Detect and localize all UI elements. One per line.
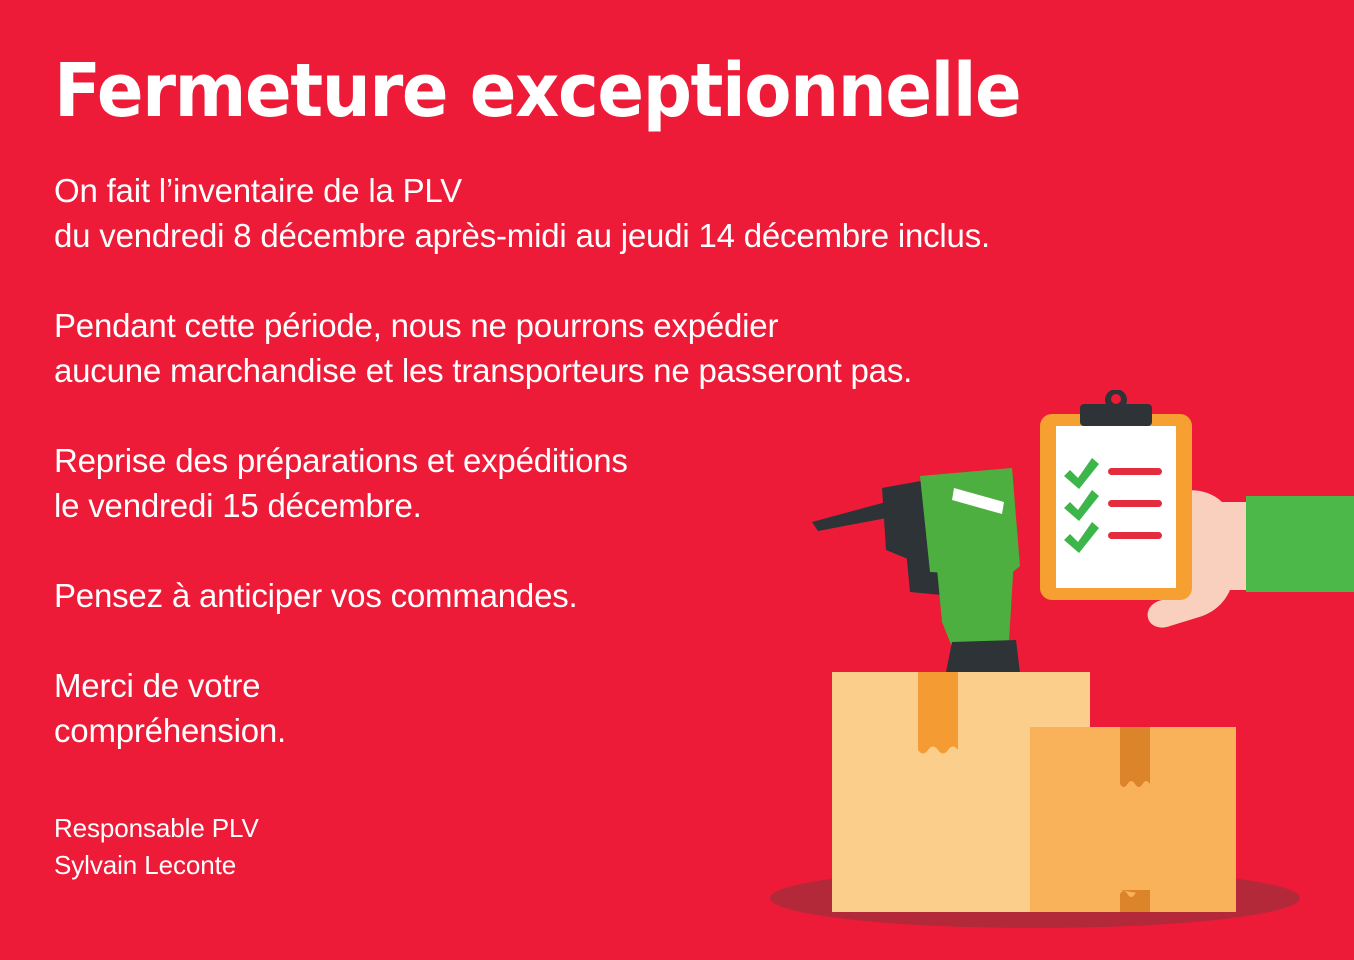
paragraph-inventory-notice: On fait l’inventaire de la PLV du vendre… — [54, 168, 1174, 258]
paragraph-anticipate-notice: Pensez à anticiper vos commandes. — [54, 573, 1174, 618]
poster-root: Fermeture exceptionnelle On fait l’inven… — [0, 0, 1354, 960]
poster-body: On fait l’inventaire de la PLV du vendre… — [54, 168, 1174, 884]
paragraph-line: aucune marchandise et les transporteurs … — [54, 348, 1174, 393]
poster-text-column: Fermeture exceptionnelle On fait l’inven… — [54, 0, 1174, 884]
signature-name: Sylvain Leconte — [54, 847, 1174, 884]
paragraph-thanks-notice: Merci de votre compréhension. — [54, 663, 1174, 753]
page-title: Fermeture exceptionnelle — [54, 0, 1096, 128]
paragraph-line: Reprise des préparations et expéditions — [54, 438, 1174, 483]
paragraph-resume-notice: Reprise des préparations et expéditions … — [54, 438, 1174, 528]
paragraph-line: On fait l’inventaire de la PLV — [54, 168, 1174, 213]
paragraph-line: Pendant cette période, nous ne pourrons … — [54, 303, 1174, 348]
paragraph-line: le vendredi 15 décembre. — [54, 483, 1174, 528]
paragraph-line: Pensez à anticiper vos commandes. — [54, 573, 1174, 618]
paragraph-line: compréhension. — [54, 708, 1174, 753]
signature-block: Responsable PLV Sylvain Leconte — [54, 810, 1174, 884]
signature-role: Responsable PLV — [54, 810, 1174, 847]
paragraph-no-shipping-notice: Pendant cette période, nous ne pourrons … — [54, 303, 1174, 393]
paragraph-line: Merci de votre — [54, 663, 1174, 708]
paragraph-line: du vendredi 8 décembre après-midi au jeu… — [54, 213, 1174, 258]
